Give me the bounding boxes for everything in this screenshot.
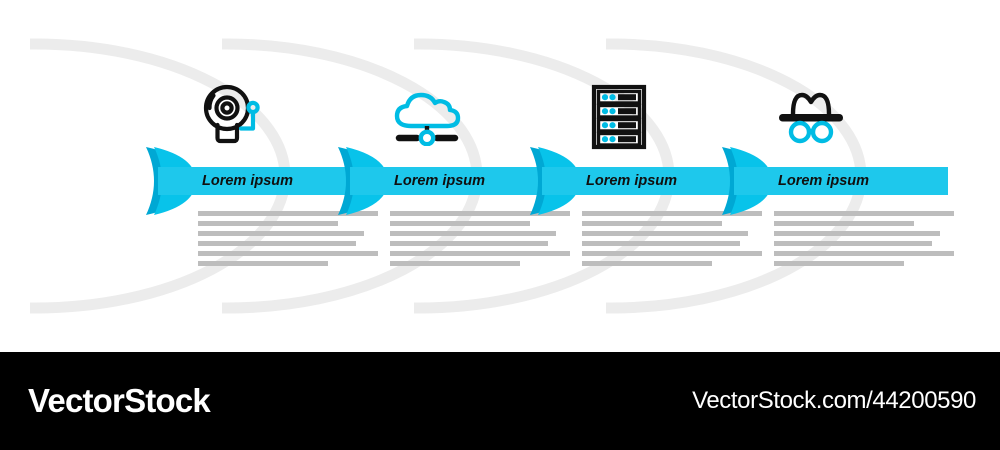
infographic-canvas: 01 Lorem ipsum [0,0,1000,352]
placeholder-line [774,231,940,236]
steps-container: 01 Lorem ipsum [0,0,1000,352]
placeholder-line [198,261,328,266]
screenshot-root: 01 Lorem ipsum [0,0,1000,450]
placeholder-line [774,221,914,226]
placeholder-line [390,261,520,266]
server-rack-icon [574,78,664,156]
step-title-01: Lorem ipsum [202,173,293,189]
placeholder-line [198,221,338,226]
placeholder-line [774,261,904,266]
watermark-footer: VectorStock VectorStock.com/44200590 [0,352,1000,450]
incognito-hat-glasses-icon [766,78,856,156]
step-title-02: Lorem ipsum [394,173,485,189]
step-placeholder-lines-04 [774,211,954,271]
step-title-bar-04[interactable]: Lorem ipsum [734,167,948,195]
ringing-alarm-bell-icon [190,78,280,156]
vectorstock-url: VectorStock.com/44200590 [692,387,976,415]
step-04[interactable]: 04 Lorem ipsum [716,0,966,352]
vectorstock-logo: VectorStock [28,382,210,420]
step-title-03: Lorem ipsum [586,173,677,189]
placeholder-line [390,221,530,226]
placeholder-line [774,251,954,256]
step-title-04: Lorem ipsum [778,173,869,189]
cloud-network-icon [382,78,472,156]
placeholder-line [774,211,954,216]
placeholder-line [774,241,932,246]
placeholder-line [582,221,722,226]
placeholder-line [582,261,712,266]
